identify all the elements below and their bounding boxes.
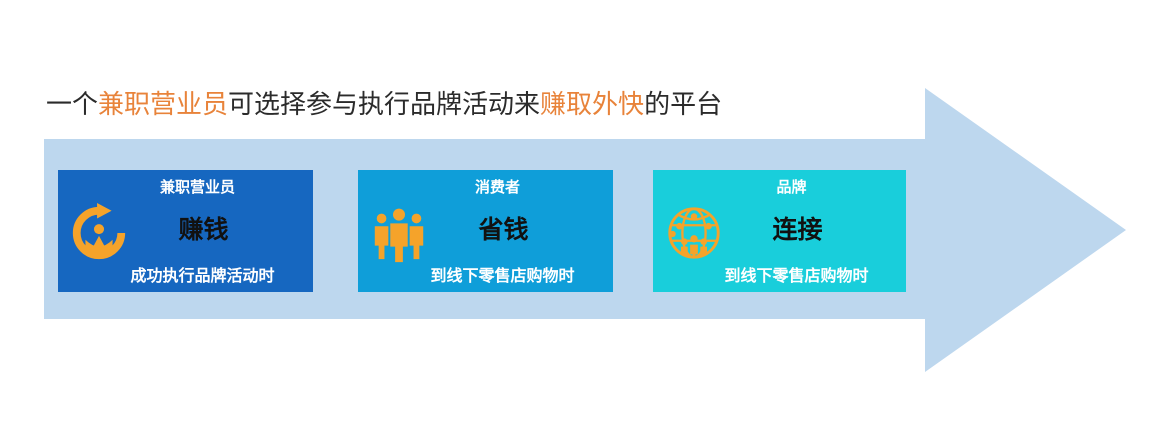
title-segment-1-highlight: 兼职营业员	[98, 90, 228, 119]
card-footer-label: 到线下零售店购物时	[358, 262, 605, 286]
title-segment-3-highlight: 赚取外快	[540, 90, 644, 119]
title-segment-2: 可选择参与执行品牌活动来	[228, 90, 540, 119]
card-part-time-clerk[interactable]: 兼职营业员 赚钱 成功执行品牌活动时	[58, 170, 313, 292]
card-consumer[interactable]: 消费者 省钱 到线下零售店购物时	[358, 170, 613, 292]
card-main-label: 赚钱	[58, 210, 313, 246]
card-header-label: 消费者	[358, 176, 613, 197]
title-segment-0: 一个	[46, 90, 98, 119]
page-title: 一个兼职营业员可选择参与执行品牌活动来赚取外快的平台	[46, 88, 722, 122]
diagram-canvas: 一个兼职营业员可选择参与执行品牌活动来赚取外快的平台 兼职营业员 赚钱 成功执行…	[0, 0, 1150, 430]
card-brand[interactable]: 品牌	[653, 170, 906, 292]
card-main-label: 连接	[653, 210, 906, 246]
card-footer-label: 到线下零售店购物时	[653, 262, 898, 286]
title-segment-4: 的平台	[644, 90, 722, 119]
card-header-label: 品牌	[653, 176, 906, 197]
card-footer-label: 成功执行品牌活动时	[58, 262, 305, 286]
card-main-label: 省钱	[358, 210, 613, 246]
card-header-label: 兼职营业员	[58, 176, 313, 197]
